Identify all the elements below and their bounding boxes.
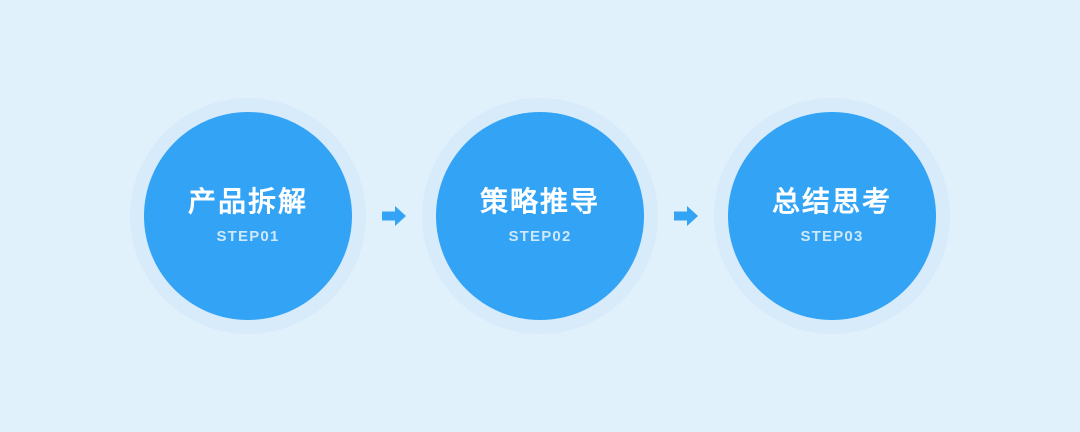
step-node-1[interactable]: 产品拆解 STEP01 [130, 98, 366, 334]
step-title-3: 总结思考 [772, 188, 892, 216]
arrow-right-icon [673, 205, 699, 227]
step-labels-1: 产品拆解 STEP01 [188, 188, 308, 244]
step-labels-3: 总结思考 STEP03 [772, 188, 892, 244]
step-flow: 产品拆解 STEP01 策略推导 STEP02 [0, 0, 1080, 432]
step-node-2[interactable]: 策略推导 STEP02 [422, 98, 658, 334]
connector-arrow-1 [366, 98, 422, 334]
arrow-right-icon [381, 205, 407, 227]
flow-diagram-canvas: 产品拆解 STEP01 策略推导 STEP02 [0, 0, 1080, 432]
step-code-1: STEP01 [188, 229, 308, 244]
step-code-3: STEP03 [772, 229, 892, 244]
step-title-2: 策略推导 [480, 188, 600, 216]
connector-arrow-2 [658, 98, 714, 334]
step-labels-2: 策略推导 STEP02 [480, 188, 600, 244]
step-node-3[interactable]: 总结思考 STEP03 [714, 98, 950, 334]
step-title-1: 产品拆解 [188, 188, 308, 216]
step-code-2: STEP02 [480, 229, 600, 244]
